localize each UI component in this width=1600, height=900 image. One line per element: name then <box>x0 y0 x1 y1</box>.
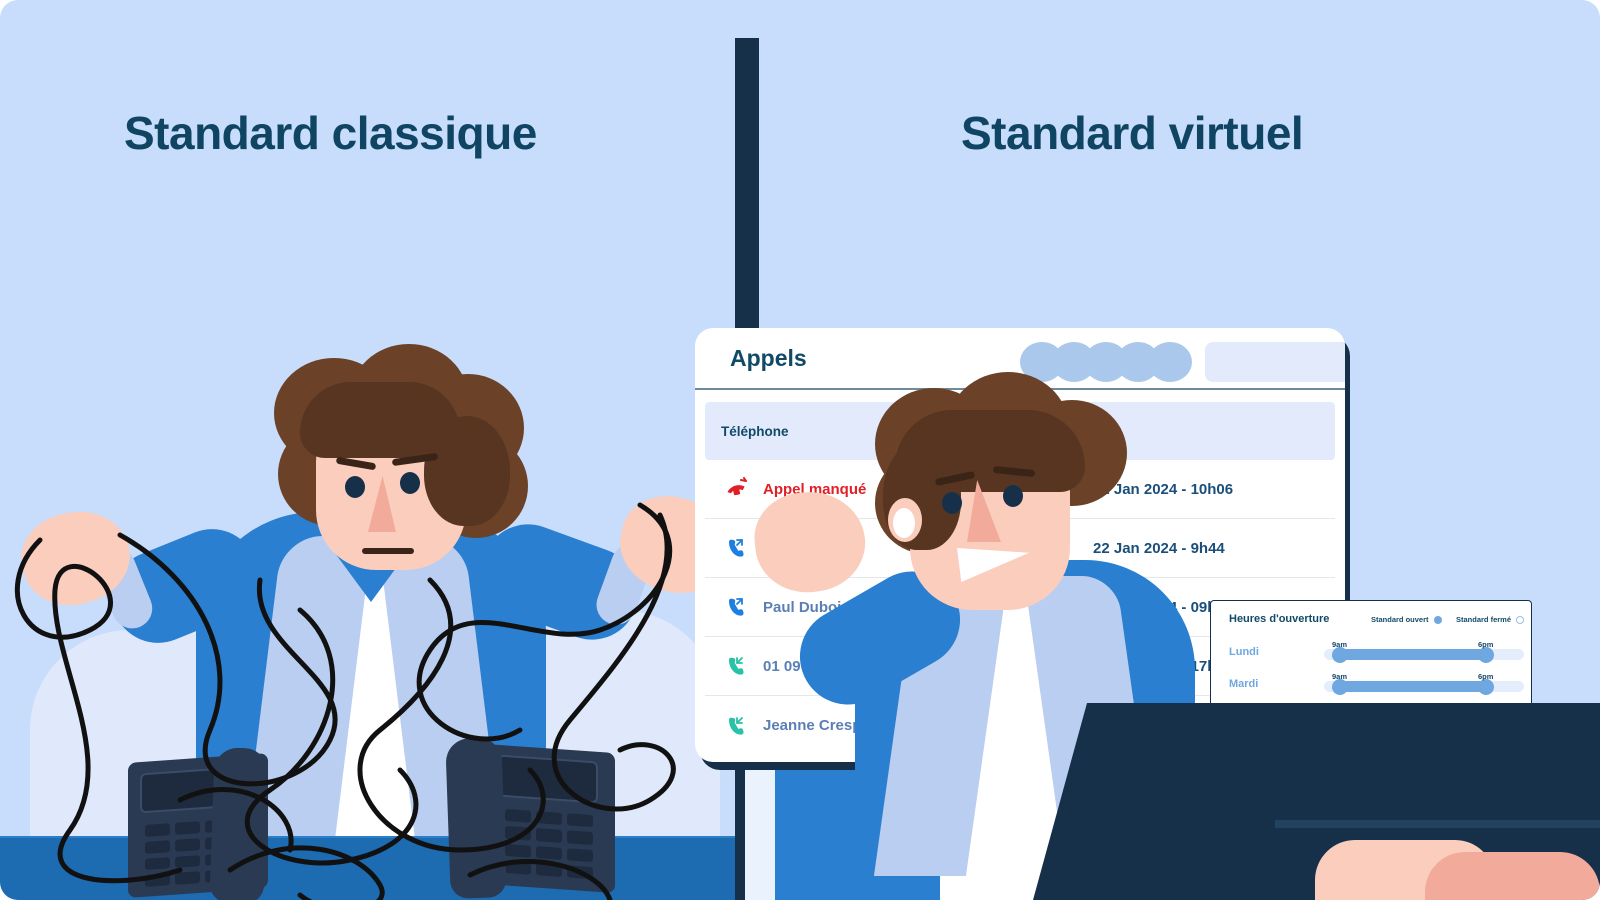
hours-slider-track[interactable]: 9am 6pm <box>1324 681 1524 692</box>
phone-incoming-icon <box>723 714 763 738</box>
person-left-eye-right <box>400 472 420 494</box>
page-title-left: Standard classique <box>124 106 537 160</box>
legend-open-dot <box>1434 616 1442 624</box>
person-right-eye-right <box>1003 485 1023 507</box>
legend-open-label: Standard ouvert <box>1371 615 1429 624</box>
legend-closed: Standard fermé <box>1456 615 1524 624</box>
desk-surface <box>0 838 735 900</box>
day-row[interactable]: Mardi 9am 6pm <box>1211 673 1532 699</box>
opening-hours-title: Heures d'ouverture <box>1229 613 1329 625</box>
laptop-base-edge <box>1275 820 1600 828</box>
desk-phone-2-handset <box>445 737 507 899</box>
legend-closed-label: Standard fermé <box>1456 615 1511 624</box>
phone-outgoing-icon <box>723 595 763 619</box>
person-left-mouth <box>362 548 414 554</box>
desk-phone-2-screen <box>498 755 598 804</box>
hours-open-tick: 9am <box>1332 672 1347 681</box>
appels-title: Appels <box>730 345 807 372</box>
earbud-icon <box>893 508 915 538</box>
avatar <box>1148 342 1192 382</box>
hours-open-tick: 9am <box>1332 640 1347 649</box>
desk-phone-1-handset <box>209 747 268 900</box>
scene-virtual-switchboard: Appels Téléphone Date <box>735 0 1600 900</box>
header-action-button[interactable] <box>1205 342 1345 382</box>
day-row[interactable]: Lundi 9am 6pm <box>1211 641 1532 667</box>
illustration-canvas: Standard classique Standard virtuel <box>0 0 1600 900</box>
scene-classic-switchboard <box>0 330 735 900</box>
person-right-eye-left <box>942 492 962 514</box>
desk-phone-2-keypad <box>505 809 593 879</box>
person-right-typing-hand-2 <box>1425 852 1600 900</box>
legend-closed-dot <box>1516 616 1524 624</box>
phone-incoming-icon <box>723 654 763 678</box>
day-label: Mardi <box>1229 678 1258 690</box>
call-date: 22 Jan 2024 - 9h44 <box>1093 540 1225 557</box>
person-left-hair-side <box>424 416 510 526</box>
phone-missed-icon <box>723 477 763 501</box>
person-left-eye-left <box>345 476 365 498</box>
hours-slider-track[interactable]: 9am 6pm <box>1324 649 1524 660</box>
hours-close-tick: 6pm <box>1478 672 1493 681</box>
day-label: Lundi <box>1229 646 1259 658</box>
hours-close-tick: 6pm <box>1478 640 1493 649</box>
avatar-group <box>1020 342 1192 382</box>
legend-open: Standard ouvert <box>1371 615 1442 624</box>
